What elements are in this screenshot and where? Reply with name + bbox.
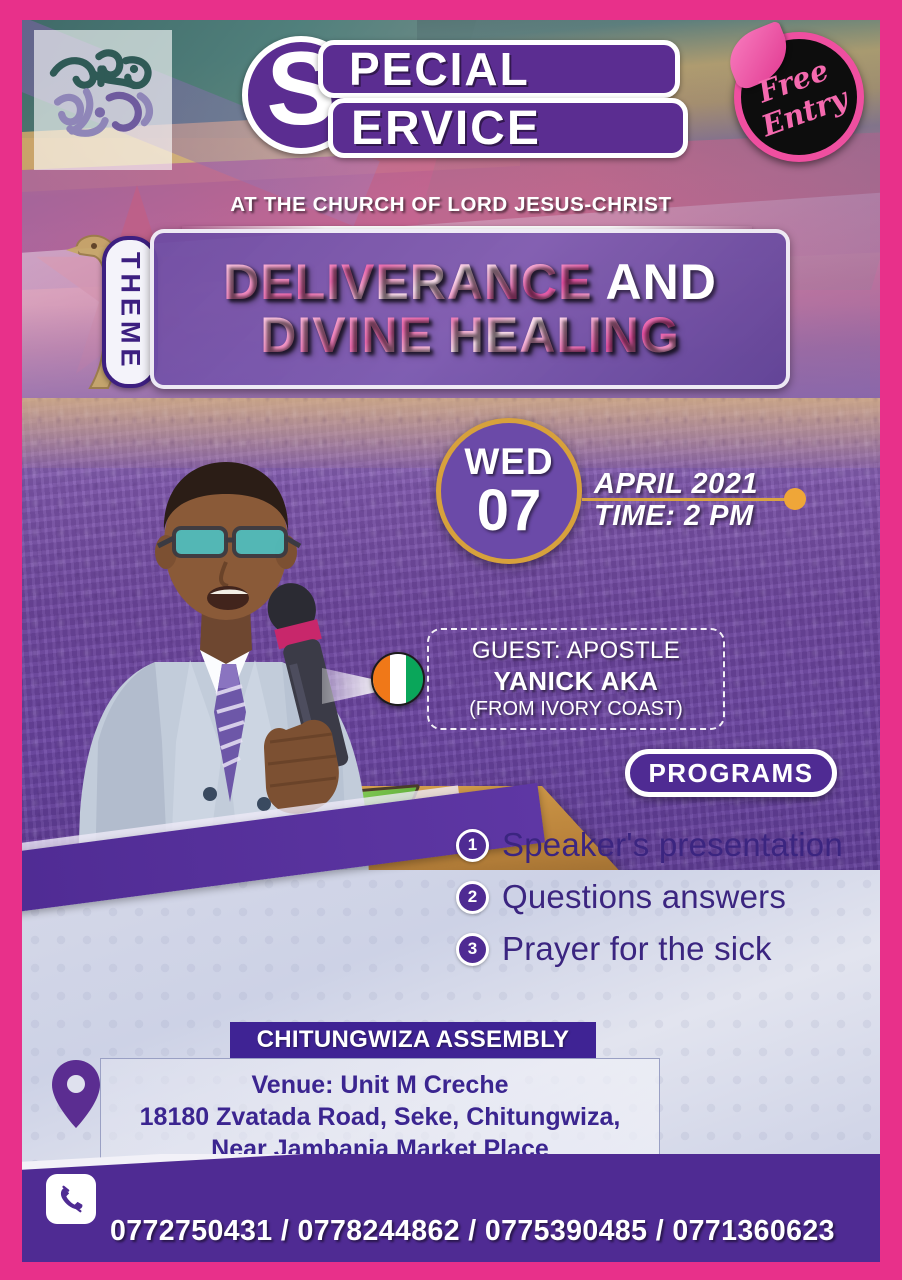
location-pin-icon	[48, 1058, 104, 1130]
church-subtitle: AT THE CHURCH OF LORD JESUS-CHRIST	[22, 193, 880, 217]
event-flyer: S PECIAL ERVICE Free Entry AT THE CHURCH…	[0, 0, 902, 1280]
calligraphy-icon	[41, 38, 165, 162]
program-label: Speaker's presentation	[502, 826, 843, 864]
theme-line-1: DELIVERANCE AND	[223, 256, 717, 309]
program-item: 2 Questions answers	[456, 878, 880, 916]
programs-list: 1 Speaker's presentation 2 Questions ans…	[456, 826, 880, 982]
venue-line-1: Venue: Unit M Creche	[252, 1069, 509, 1101]
guest-box: GUEST: APOSTLE YANICK AKA (FROM IVORY CO…	[427, 628, 725, 730]
guest-name: YANICK AKA	[494, 666, 659, 697]
title-block: S PECIAL ERVICE	[242, 28, 692, 163]
flag-stripe-white	[390, 654, 407, 704]
program-number: 2	[456, 881, 489, 914]
theme-tab-label: THEME	[115, 252, 146, 372]
ivory-coast-flag-icon	[371, 652, 425, 706]
assembly-banner: CHITUNGWIZA ASSEMBLY	[230, 1022, 596, 1058]
program-label: Prayer for the sick	[502, 930, 772, 968]
title-line-2: ERVICE	[328, 98, 688, 158]
program-item: 1 Speaker's presentation	[456, 826, 880, 864]
program-item: 3 Prayer for the sick	[456, 930, 880, 968]
telephone-icon	[56, 1184, 86, 1214]
date-circle: WED 07	[436, 418, 582, 564]
date-weekday: WED	[464, 443, 553, 480]
theme-line-1-primary: DELIVERANCE	[223, 254, 592, 310]
phone-icon-badge	[46, 1174, 96, 1224]
church-logo	[34, 30, 172, 170]
footer: 0772750431 / 0778244862 / 0775390485 / 0…	[22, 1154, 880, 1262]
guest-label: GUEST: APOSTLE	[472, 637, 680, 665]
theme-box: DELIVERANCE AND DIVINE HEALING	[150, 229, 790, 389]
flyer-canvas: S PECIAL ERVICE Free Entry AT THE CHURCH…	[22, 20, 880, 1262]
program-number: 3	[456, 933, 489, 966]
title-line-1: PECIAL	[318, 40, 680, 98]
guest-origin: (FROM IVORY COAST)	[469, 698, 683, 721]
theme-line-1-conjunction: AND	[606, 254, 717, 310]
program-label: Questions answers	[502, 878, 786, 916]
theme-line-2: DIVINE HEALING	[260, 309, 680, 362]
date-details: APRIL 2021 TIME: 2 PM	[594, 468, 874, 533]
programs-badge: PROGRAMS	[625, 749, 837, 797]
venue-line-2: 18180 Zvatada Road, Seke, Chitungwiza,	[140, 1101, 621, 1133]
date-day: 07	[477, 482, 542, 540]
free-entry-badge: Free Entry	[734, 32, 864, 162]
program-number: 1	[456, 829, 489, 862]
date-time: TIME: 2 PM	[594, 500, 874, 532]
phone-numbers: 0772750431 / 0778244862 / 0775390485 / 0…	[110, 1215, 870, 1248]
date-month-year: APRIL 2021	[594, 468, 874, 500]
